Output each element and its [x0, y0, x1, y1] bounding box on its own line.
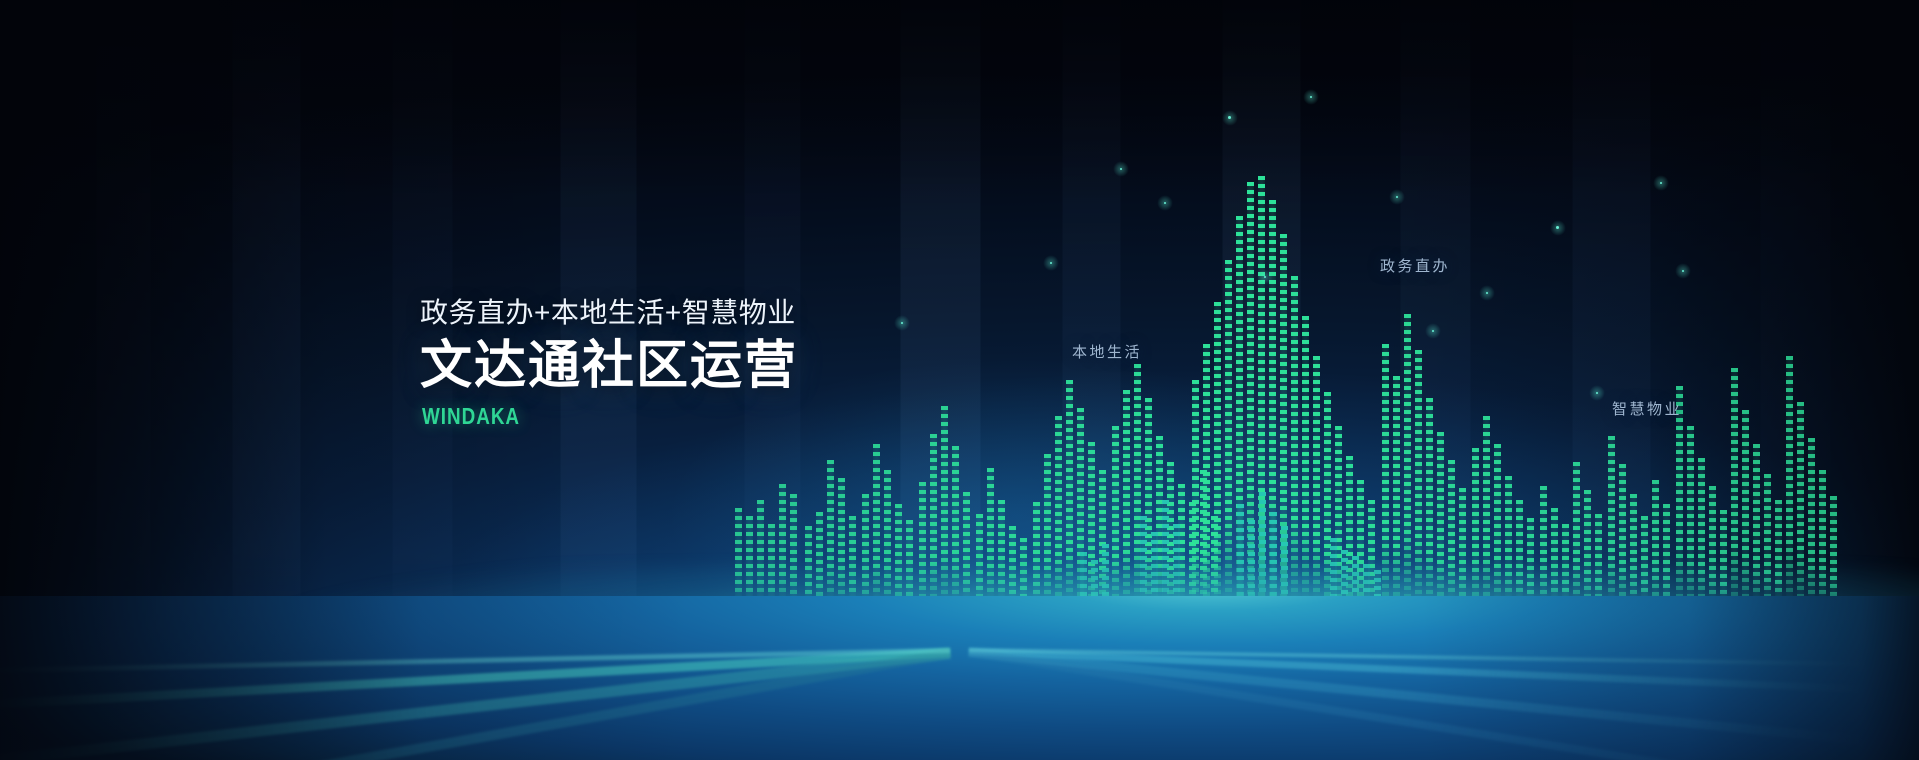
hero-banner: 本地生活政务直办智慧物业 政务直办+本地生活+智慧物业 文达通社区运营 WIND…: [0, 0, 1919, 760]
headline-copy-block: 政务直办+本地生活+智慧物业 文达通社区运营 WINDAKA: [420, 296, 798, 430]
kicker-text: 政务直办+本地生活+智慧物业: [420, 296, 798, 329]
chart-bar: [1225, 260, 1232, 612]
ground-edge-shading: [0, 596, 1919, 760]
float-label-2: 政务直办: [1380, 255, 1450, 276]
float-label-1: 本地生活: [1072, 341, 1142, 362]
chart-bar: [1291, 276, 1298, 612]
float-label-3: 智慧物业: [1612, 398, 1682, 419]
brand-wordmark: WINDAKA: [422, 403, 730, 430]
page-title: 文达通社区运营: [420, 339, 798, 394]
